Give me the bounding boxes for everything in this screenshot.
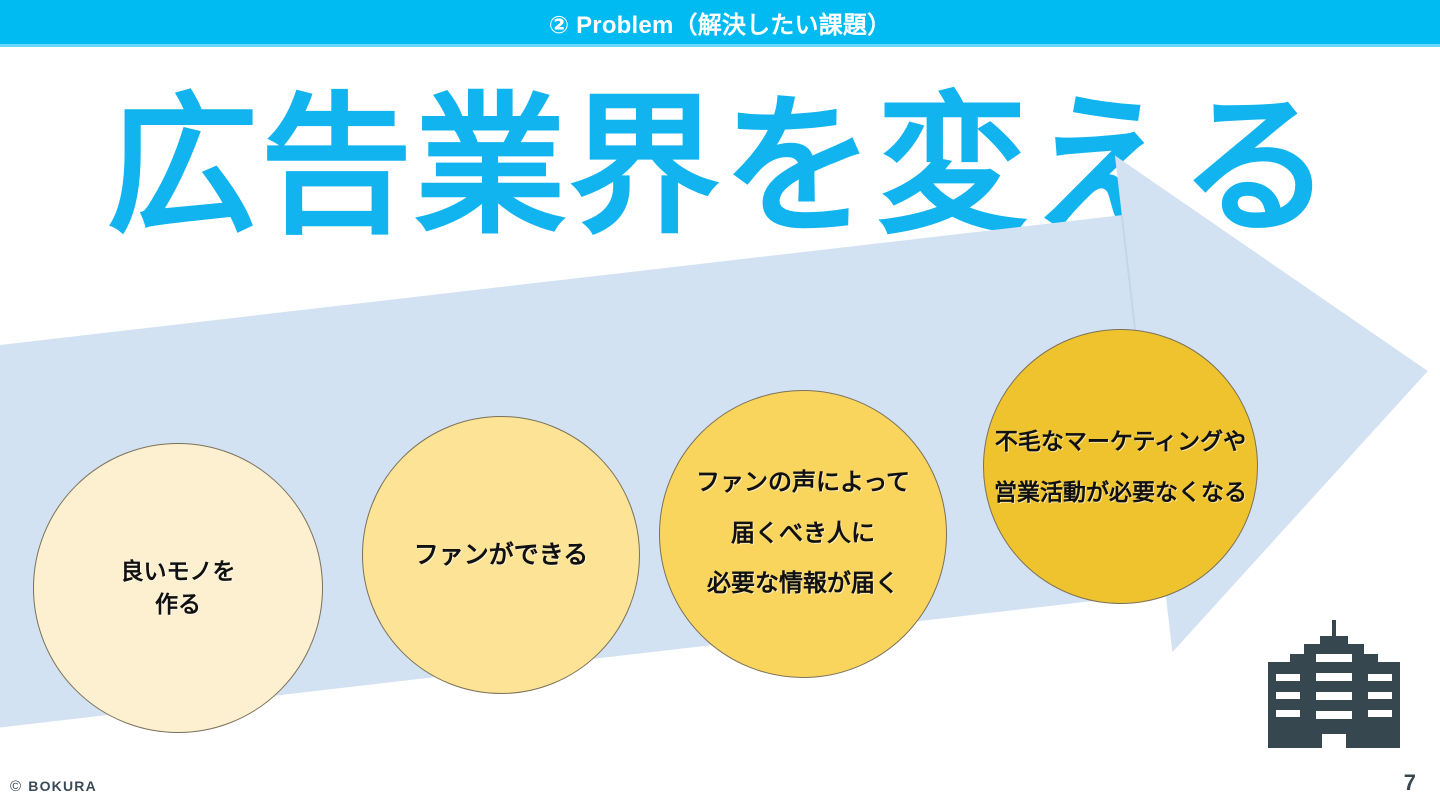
step-circle-4: 不毛なマーケティングや 営業活動が必要なくなる: [983, 329, 1258, 604]
copyright-icon: ©: [10, 779, 22, 794]
page-number: 7: [1404, 770, 1416, 796]
step-2-line-1: ファンができる: [414, 537, 589, 573]
step-3-line-1: ファンの声によって: [696, 458, 910, 508]
slide: ② Problem（解決したい課題） 広告業界を変える 良いモノを 作る ファン…: [0, 0, 1440, 805]
step-3-line-2: 届くべき人に: [731, 509, 875, 559]
step-1-line-1: 良いモノを: [121, 555, 236, 588]
step-circle-2: ファンができる: [362, 416, 640, 694]
step-4-line-1: 不毛なマーケティングや: [995, 416, 1246, 467]
step-4-line-2: 営業活動が必要なくなる: [994, 467, 1247, 518]
copyright: © BOKURA: [10, 778, 97, 794]
step-3-line-3: 必要な情報が届く: [707, 559, 899, 609]
step-circle-3: ファンの声によって 届くべき人に 必要な情報が届く: [659, 390, 947, 678]
step-circle-1: 良いモノを 作る: [33, 443, 323, 733]
brand-name: BOKURA: [28, 778, 97, 794]
step-1-line-2: 作る: [155, 588, 201, 621]
header-title: ② Problem（解決したい課題）: [0, 0, 1440, 44]
office-building-icon: [1260, 618, 1408, 758]
